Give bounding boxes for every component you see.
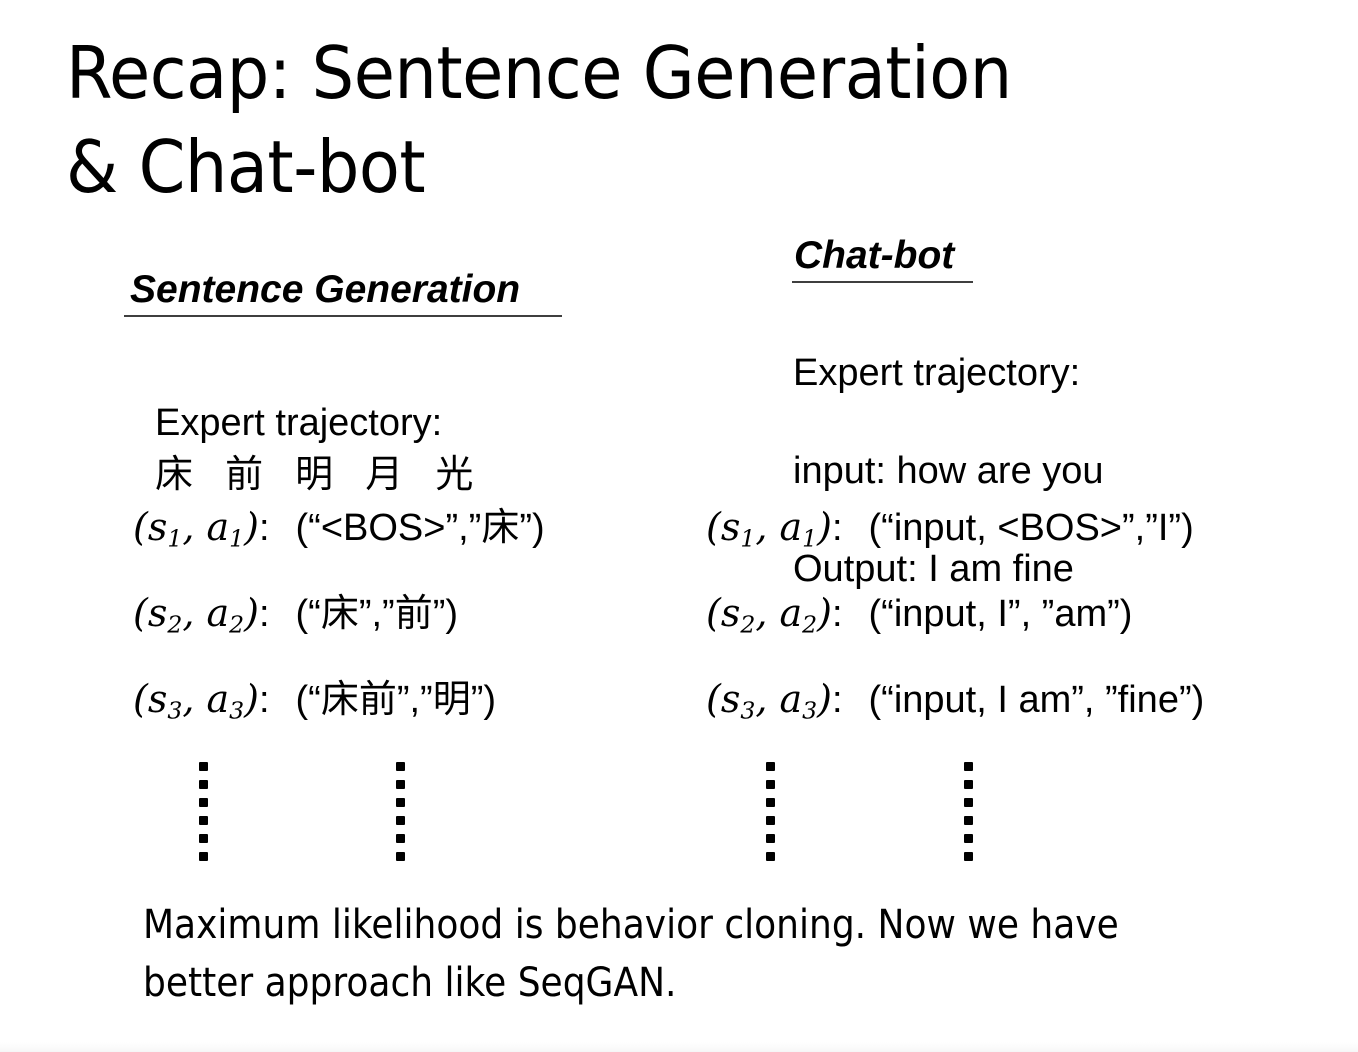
heading-underline-sentence-generation [124,315,562,317]
expert-trajectory-label-right: Expert trajectory: [793,352,1080,394]
expert-trajectory-label-left: Expert trajectory: [155,402,442,444]
dot [199,762,208,771]
section-heading-chat-bot: Chat-bot [794,234,954,278]
state-action-row: (s2, a2): (“床”,”前”) [133,590,458,637]
dot [964,816,973,825]
state-action-value: (“input, I”, ”am”) [869,591,1133,637]
dot [766,780,775,789]
dot [396,762,405,771]
state-action-row: (s2, a2): (“input, I”, ”am”) [706,590,1132,637]
dot [396,780,405,789]
vertical-dots-icon [199,762,208,861]
state-action-label: (s3, a3): [706,676,843,723]
footnote-text: Maximum likelihood is behavior cloning. … [143,896,1160,1012]
dot [766,834,775,843]
state-action-row: (s3, a3): (“input, I am”, ”fine”) [706,676,1204,723]
state-action-label: (s2, a2): [706,590,843,637]
dot [964,852,973,861]
vertical-dots-icon [396,762,405,861]
state-action-row: (s1, a1): (“<BOS>”,”床”) [133,504,545,551]
dot [964,780,973,789]
expert-trajectory-text-chinese: 床 前 明 月 光 [155,448,483,500]
dot [766,816,775,825]
dot [396,798,405,807]
dot [199,780,208,789]
expert-trajectory-output: Output: I am fine [793,548,1074,590]
dot [964,798,973,807]
state-action-value: (“<BOS>”,”床”) [296,505,545,551]
dot [964,834,973,843]
dot [396,834,405,843]
vertical-dots-icon [964,762,973,861]
page-title: Recap: Sentence Generation & Chat-bot [66,26,1145,214]
state-action-row: (s3, a3): (“床前”,”明”) [133,676,496,723]
slide-canvas: Recap: Sentence Generation & Chat-bot Se… [0,0,1358,1052]
dot [964,762,973,771]
state-action-label: (s3, a3): [133,676,270,723]
dot [766,762,775,771]
dot [396,816,405,825]
dot [199,798,208,807]
dot [199,852,208,861]
dot [199,816,208,825]
state-action-label: (s1, a1): [706,504,843,551]
state-action-value: (“input, I am”, ”fine”) [869,677,1205,723]
heading-underline-chat-bot [792,281,973,283]
expert-trajectory-input: input: how are you [793,450,1104,492]
state-action-value: (“input, <BOS>”,”I”) [869,505,1194,551]
dot [766,798,775,807]
state-action-value: (“床前”,”明”) [296,677,496,723]
slide-bottom-edge [0,1042,1358,1052]
state-action-label: (s2, a2): [133,590,270,637]
state-action-row: (s1, a1): (“input, <BOS>”,”I”) [706,504,1194,551]
dot [199,834,208,843]
state-action-value: (“床”,”前”) [296,591,458,637]
dot [396,852,405,861]
section-heading-sentence-generation: Sentence Generation [130,268,520,312]
state-action-label: (s1, a1): [133,504,270,551]
dot [766,852,775,861]
vertical-dots-icon [766,762,775,861]
